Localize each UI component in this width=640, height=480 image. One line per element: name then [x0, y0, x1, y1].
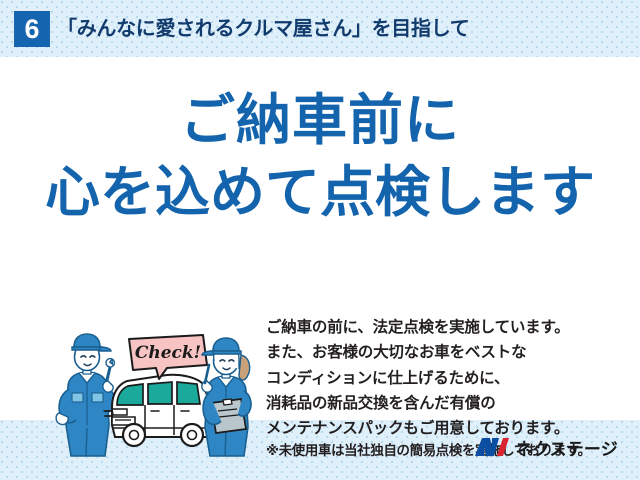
nextage-logo: ネクステージ: [473, 434, 618, 460]
wrench-icon: [106, 359, 114, 380]
nextage-n-mark-icon: [473, 436, 509, 458]
headline: ご納車前に 心を込めて点検します: [0, 84, 640, 228]
check-label: Check!: [135, 343, 201, 363]
body-line-1: ご納車の前に、法定点検を実施しています。: [266, 315, 626, 340]
headline-line-1: ご納車前に: [0, 84, 640, 156]
promo-banner: 6 「みんなに愛されるクルマ屋さん」を目指して ご納車前に 心を込めて点検します…: [0, 0, 640, 480]
header: 6 「みんなに愛されるクルマ屋さん」を目指して: [0, 0, 640, 57]
check-speech-bubble: Check!: [129, 335, 207, 379]
body-line-3: コンディションに仕上げるために、: [266, 366, 626, 391]
body-line-2: また、お客様の大切なお車をベストな: [266, 340, 626, 365]
nextage-logo-text: ネクステージ: [516, 435, 618, 460]
header-title: 「みんなに愛されるクルマ屋さん」を目指して: [57, 13, 470, 45]
section-number-badge: 6: [14, 11, 50, 47]
body-line-4: 消耗品の新品交換を含んだ有償の: [266, 391, 626, 416]
content-panel: ご納車前に 心を込めて点検します ご納車の前に、法定点検を実施しています。 また…: [0, 57, 640, 420]
headline-line-2: 心を込めて点検します: [0, 156, 640, 228]
footer: ネクステージ: [0, 420, 640, 480]
